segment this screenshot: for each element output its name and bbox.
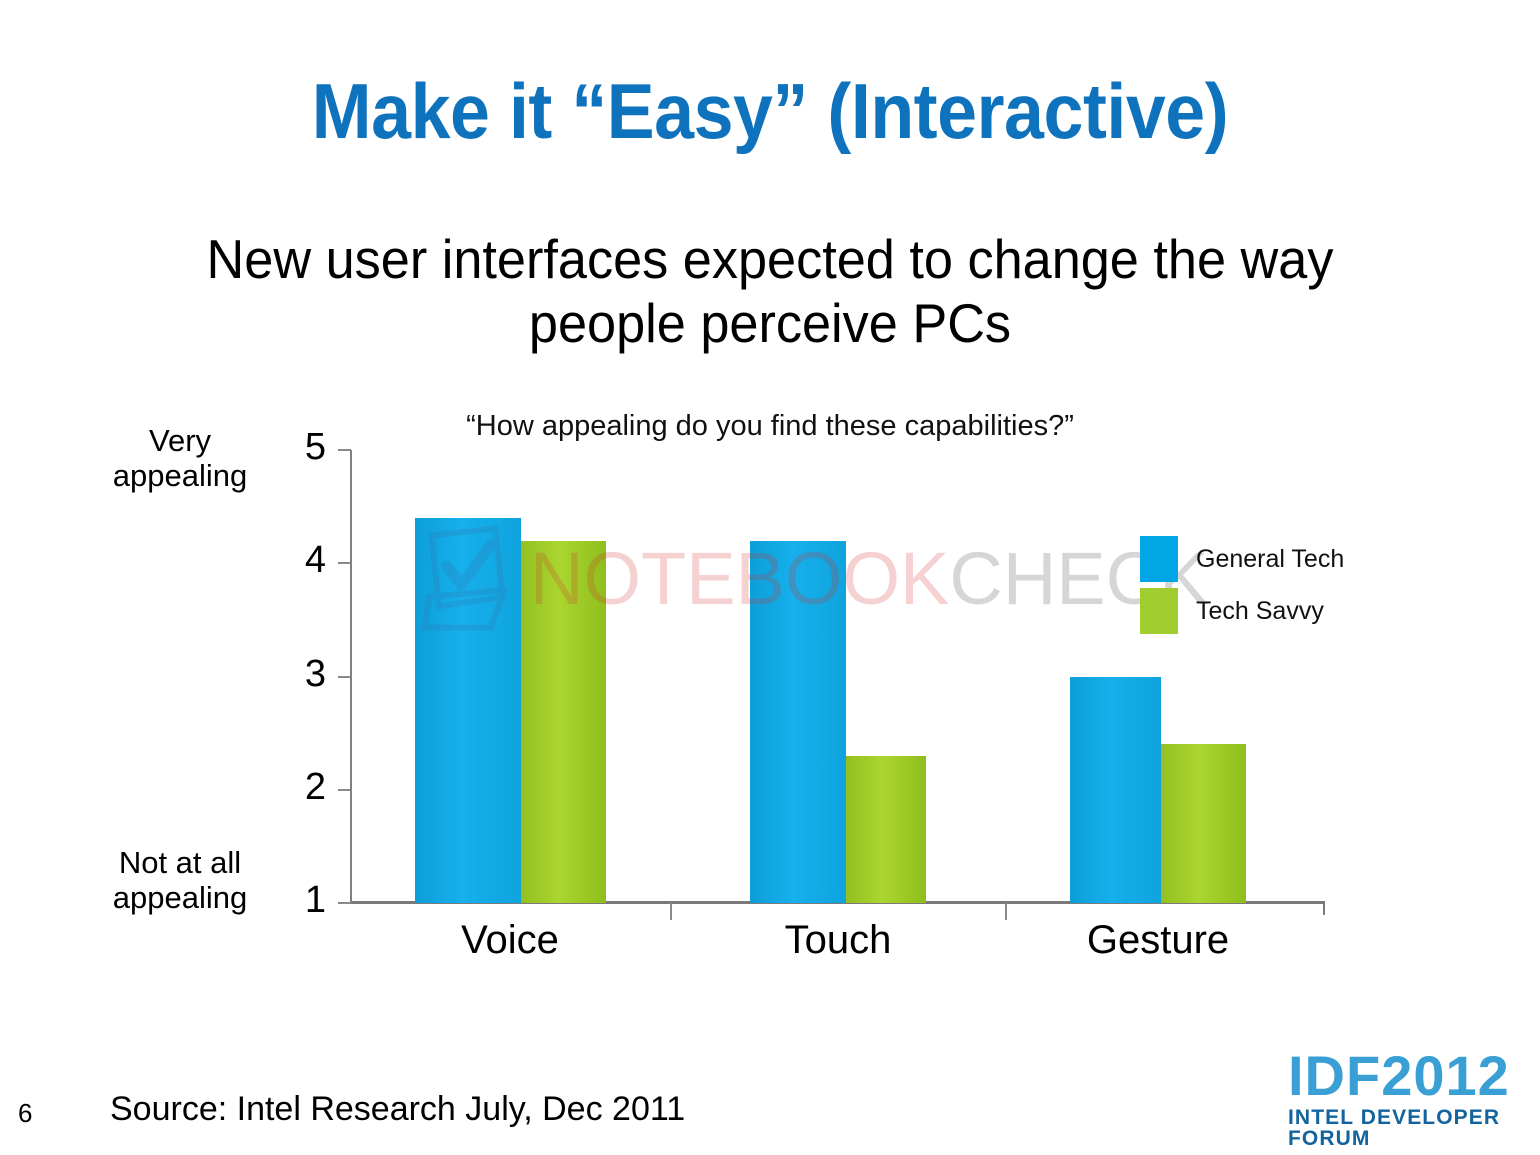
bar-voice-general-tech [415, 518, 521, 903]
bar-chart: “How appealing do you find these capabil… [0, 0, 1540, 1155]
slide-number: 6 [18, 1098, 32, 1129]
chart-legend: General TechTech Savvy [1140, 533, 1344, 637]
idf2012-logo: IDF2012 INTEL DEVELOPER FORUM [1288, 1048, 1540, 1149]
source-note: Source: Intel Research July, Dec 2011 [110, 1090, 685, 1129]
legend-label: Tech Savvy [1196, 597, 1324, 626]
bar-touch-general-tech [750, 541, 846, 903]
bars-layer [0, 0, 1540, 903]
legend-swatch-icon [1140, 588, 1178, 634]
x-axis-separator-tick [670, 903, 672, 920]
legend-label: General Tech [1196, 545, 1344, 574]
bar-touch-tech-savvy [846, 756, 926, 903]
idf-logo-main: IDF2012 [1288, 1048, 1540, 1104]
legend-item-tech-savvy[interactable]: Tech Savvy [1140, 585, 1344, 637]
x-axis-label-gesture: Gesture [1028, 918, 1288, 963]
x-axis-label-touch: Touch [708, 918, 968, 963]
x-axis-right-cap [1323, 901, 1325, 915]
bar-voice-tech-savvy [521, 541, 606, 903]
slide-canvas: Make it “Easy” (Interactive) New user in… [0, 0, 1540, 1155]
legend-swatch-icon [1140, 536, 1178, 582]
idf-logo-subtitle: INTEL DEVELOPER FORUM [1288, 1107, 1540, 1149]
x-axis-separator-tick [1005, 903, 1007, 920]
bar-gesture-general-tech [1070, 677, 1161, 904]
bar-gesture-tech-savvy [1161, 744, 1246, 903]
x-axis-label-voice: Voice [380, 918, 640, 963]
legend-item-general-tech[interactable]: General Tech [1140, 533, 1344, 585]
